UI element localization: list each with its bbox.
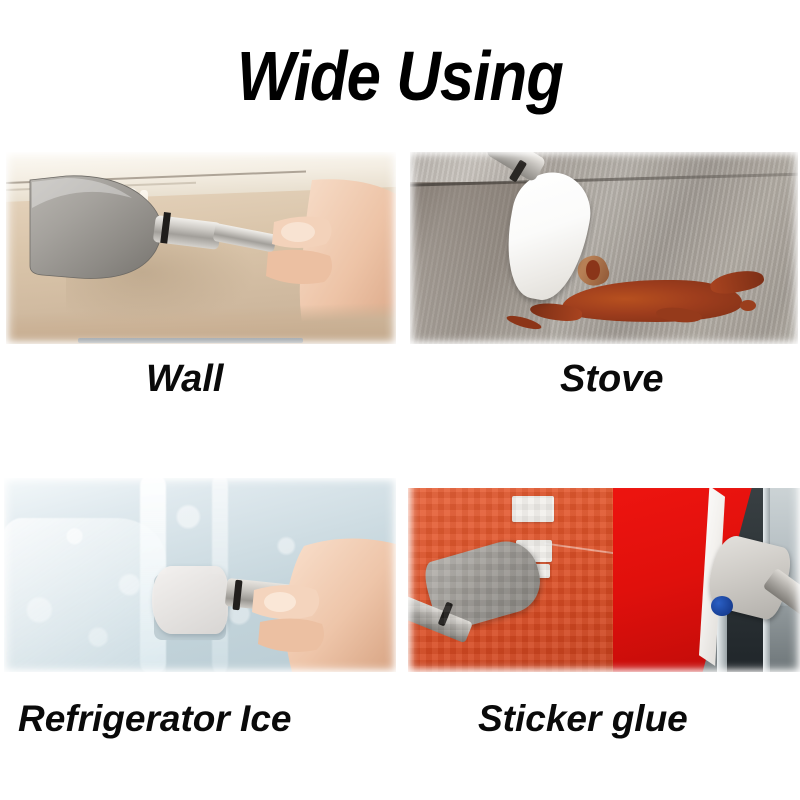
caption-wall: Wall [146, 358, 223, 401]
wall-baseboard [78, 338, 303, 343]
sticker-residue [516, 540, 552, 562]
panel-refrigerator-ice [4, 478, 396, 672]
fingernail [264, 592, 296, 612]
photo-refrigerator-ice [4, 478, 396, 672]
sticker-residue [526, 564, 550, 578]
caption-stove: Stove [560, 358, 663, 401]
scraper-handle-tail [213, 223, 277, 252]
scraper-blade [420, 534, 548, 634]
panel-sticker-glue [408, 478, 800, 672]
caption-sticker-glue: Sticker glue [478, 698, 688, 740]
sticker-residue [512, 496, 554, 522]
photo-wall [6, 152, 396, 344]
spill-drop [586, 260, 600, 280]
panel-wall [6, 152, 396, 344]
panel-stove [410, 152, 798, 344]
glass-door [613, 478, 800, 672]
caption-refrigerator-ice: Refrigerator Ice [18, 698, 292, 740]
page-title: Wide Using [48, 36, 752, 116]
finger-middle [266, 250, 332, 284]
wall-scratch [544, 542, 623, 555]
finger-middle [258, 618, 324, 652]
photo-top-edge [408, 478, 800, 488]
fingernail [281, 222, 315, 242]
blue-marker-dot [711, 596, 733, 616]
spill-drop [740, 300, 756, 311]
scraper-ferrule [438, 602, 453, 627]
scraper-handle [408, 591, 473, 644]
hand-ice [4, 478, 396, 672]
photo-stove [410, 152, 798, 344]
orange-wall [408, 478, 613, 672]
photo-sticker-glue [408, 478, 800, 672]
product-feature-image: Wide Using [0, 0, 800, 800]
